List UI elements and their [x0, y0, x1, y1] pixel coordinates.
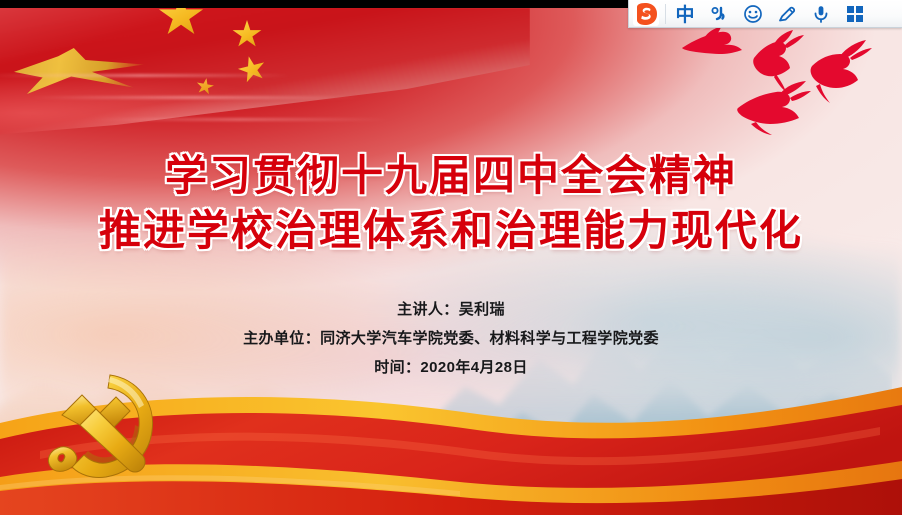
- voice-input-icon[interactable]: [804, 1, 838, 27]
- date-line: 时间：2020年4月28日: [0, 360, 902, 375]
- cpc-emblem: [38, 363, 188, 503]
- punctuation-toggle-icon[interactable]: [702, 1, 736, 27]
- flag-streak-1: [0, 74, 290, 77]
- speaker-line: 主讲人：吴利瑞: [0, 302, 902, 317]
- title-line-1: 学习贯彻十九届四中全会精神: [0, 148, 902, 203]
- language-toggle-icon[interactable]: 中: [668, 1, 702, 27]
- handwriting-pen-icon[interactable]: [770, 1, 804, 27]
- sogou-ime-toolbar[interactable]: 中: [628, 0, 902, 28]
- flying-doves-group: [668, 24, 898, 136]
- screen: 学习贯彻十九届四中全会精神 推进学校治理体系和治理能力现代化 主讲人：吴利瑞 主…: [0, 0, 902, 515]
- sogou-logo-icon[interactable]: [629, 1, 663, 27]
- toolbar-divider-1: [665, 4, 666, 24]
- dove-icon-1: [682, 27, 742, 54]
- presentation-slide: 学习贯彻十九届四中全会精神 推进学校治理体系和治理能力现代化 主讲人：吴利瑞 主…: [0, 0, 902, 515]
- dove-icon-4: [737, 81, 811, 135]
- top-black-bar: [0, 0, 628, 8]
- flag-streak-3: [90, 118, 390, 121]
- title-block: 学习贯彻十九届四中全会精神 推进学校治理体系和治理能力现代化: [0, 148, 902, 259]
- emoji-picker-icon[interactable]: [736, 1, 770, 27]
- toolbox-grid-icon[interactable]: [838, 1, 872, 27]
- organizer-line: 主办单位：同济大学汽车学院党委、材料科学与工程学院党委: [0, 331, 902, 346]
- dove-icon-2: [753, 30, 804, 92]
- dove-icon-3: [811, 40, 872, 103]
- flag-streak-2: [30, 96, 360, 99]
- title-line-2: 推进学校治理体系和治理能力现代化: [0, 203, 902, 258]
- subtitle-block: 主讲人：吴利瑞 主办单位：同济大学汽车学院党委、材料科学与工程学院党委 时间：2…: [0, 302, 902, 375]
